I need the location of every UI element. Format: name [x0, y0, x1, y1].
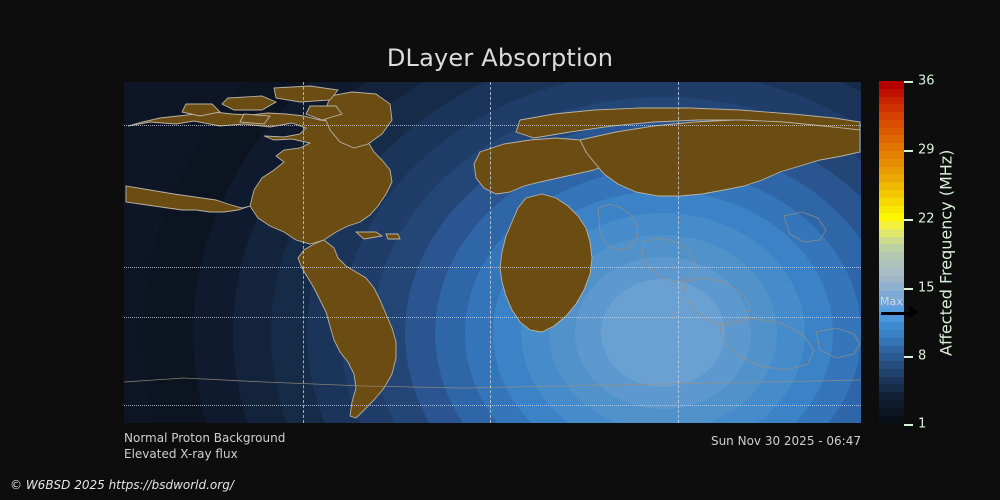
colorbar-tick-8: [904, 356, 913, 358]
colorbar-segment-43: [879, 416, 904, 424]
colorbar-segment-4: [879, 112, 904, 120]
world-map[interactable]: [124, 82, 861, 423]
colorbar-tick-1: [904, 424, 913, 426]
colorbar-tick-label-36: 36: [918, 74, 935, 89]
colorbar-tick-29: [904, 150, 913, 152]
colorbar-segment-36: [879, 361, 904, 369]
meridian-line-2: [678, 82, 679, 423]
colorbar-segment-17: [879, 213, 904, 221]
colorbar-segment-31: [879, 322, 904, 330]
credit-line: © W6BSD 2025 https://bsdworld.org/: [10, 478, 234, 492]
colorbar-segment-33: [879, 338, 904, 346]
parallel-line-1: [124, 267, 861, 268]
colorbar-segment-23: [879, 260, 904, 268]
colorbar-segment-12: [879, 174, 904, 182]
colorbar-segment-26: [879, 283, 904, 291]
colorbar-segment-14: [879, 190, 904, 198]
colorbar-segment-0: [879, 81, 904, 89]
colorbar-tick-label-22: 22: [918, 212, 935, 227]
colorbar-tick-15: [904, 288, 913, 290]
parallel-line-3: [124, 405, 861, 406]
colorbar-segment-35: [879, 353, 904, 361]
colorbar-segment-11: [879, 167, 904, 175]
colorbar-segment-37: [879, 369, 904, 377]
colorbar-segment-1: [879, 89, 904, 97]
parallel-line-0: [124, 125, 861, 126]
colorbar-segment-7: [879, 135, 904, 143]
coastline-outlines: [124, 204, 861, 388]
colorbar-segment-38: [879, 377, 904, 385]
colorbar-segment-34: [879, 346, 904, 354]
colorbar-segment-42: [879, 408, 904, 416]
meridian-line-0: [303, 82, 304, 423]
xray-flux-note: Elevated X-ray flux: [124, 446, 285, 462]
colorbar-tick-label-1: 1: [918, 417, 926, 432]
landmasses: [126, 86, 860, 418]
colorbar-tick-label-29: 29: [918, 143, 935, 158]
colorbar[interactable]: [879, 81, 904, 424]
colorbar-segment-3: [879, 104, 904, 112]
colorbar-segment-6: [879, 128, 904, 136]
timestamp: Sun Nov 30 2025 - 06:47: [0, 434, 861, 448]
colorbar-segment-22: [879, 252, 904, 260]
coastlines-layer: [124, 82, 861, 423]
colorbar-tick-label-8: 8: [918, 349, 926, 364]
colorbar-segment-8: [879, 143, 904, 151]
colorbar-max-marker: Max: [879, 296, 925, 322]
dlayer-absorption-screen: DLayer Absorption: [0, 0, 1000, 500]
meridian-line-1: [490, 82, 491, 423]
page-title: DLayer Absorption: [0, 44, 1000, 72]
colorbar-segment-20: [879, 237, 904, 245]
colorbar-segment-15: [879, 198, 904, 206]
colorbar-axis-label: Affected Frequency (MHz): [935, 82, 957, 424]
colorbar-segment-13: [879, 182, 904, 190]
colorbar-segment-40: [879, 392, 904, 400]
colorbar-segment-41: [879, 400, 904, 408]
colorbar-segment-9: [879, 151, 904, 159]
colorbar-segment-10: [879, 159, 904, 167]
colorbar-tick-36: [904, 81, 913, 83]
colorbar-segment-39: [879, 384, 904, 392]
colorbar-segment-16: [879, 206, 904, 214]
colorbar-segment-5: [879, 120, 904, 128]
colorbar-segment-25: [879, 276, 904, 284]
colorbar-segment-19: [879, 229, 904, 237]
colorbar-segment-18: [879, 221, 904, 229]
colorbar-segment-24: [879, 268, 904, 276]
max-marker-label: Max: [880, 295, 903, 308]
colorbar-tick-22: [904, 219, 913, 221]
max-arrow-shaft: [881, 312, 911, 315]
colorbar-segment-2: [879, 97, 904, 105]
colorbar-tick-label-15: 15: [918, 281, 935, 296]
colorbar-segment-21: [879, 244, 904, 252]
max-arrow-head-icon: [909, 306, 919, 318]
parallel-line-2: [124, 317, 861, 318]
colorbar-segment-32: [879, 330, 904, 338]
